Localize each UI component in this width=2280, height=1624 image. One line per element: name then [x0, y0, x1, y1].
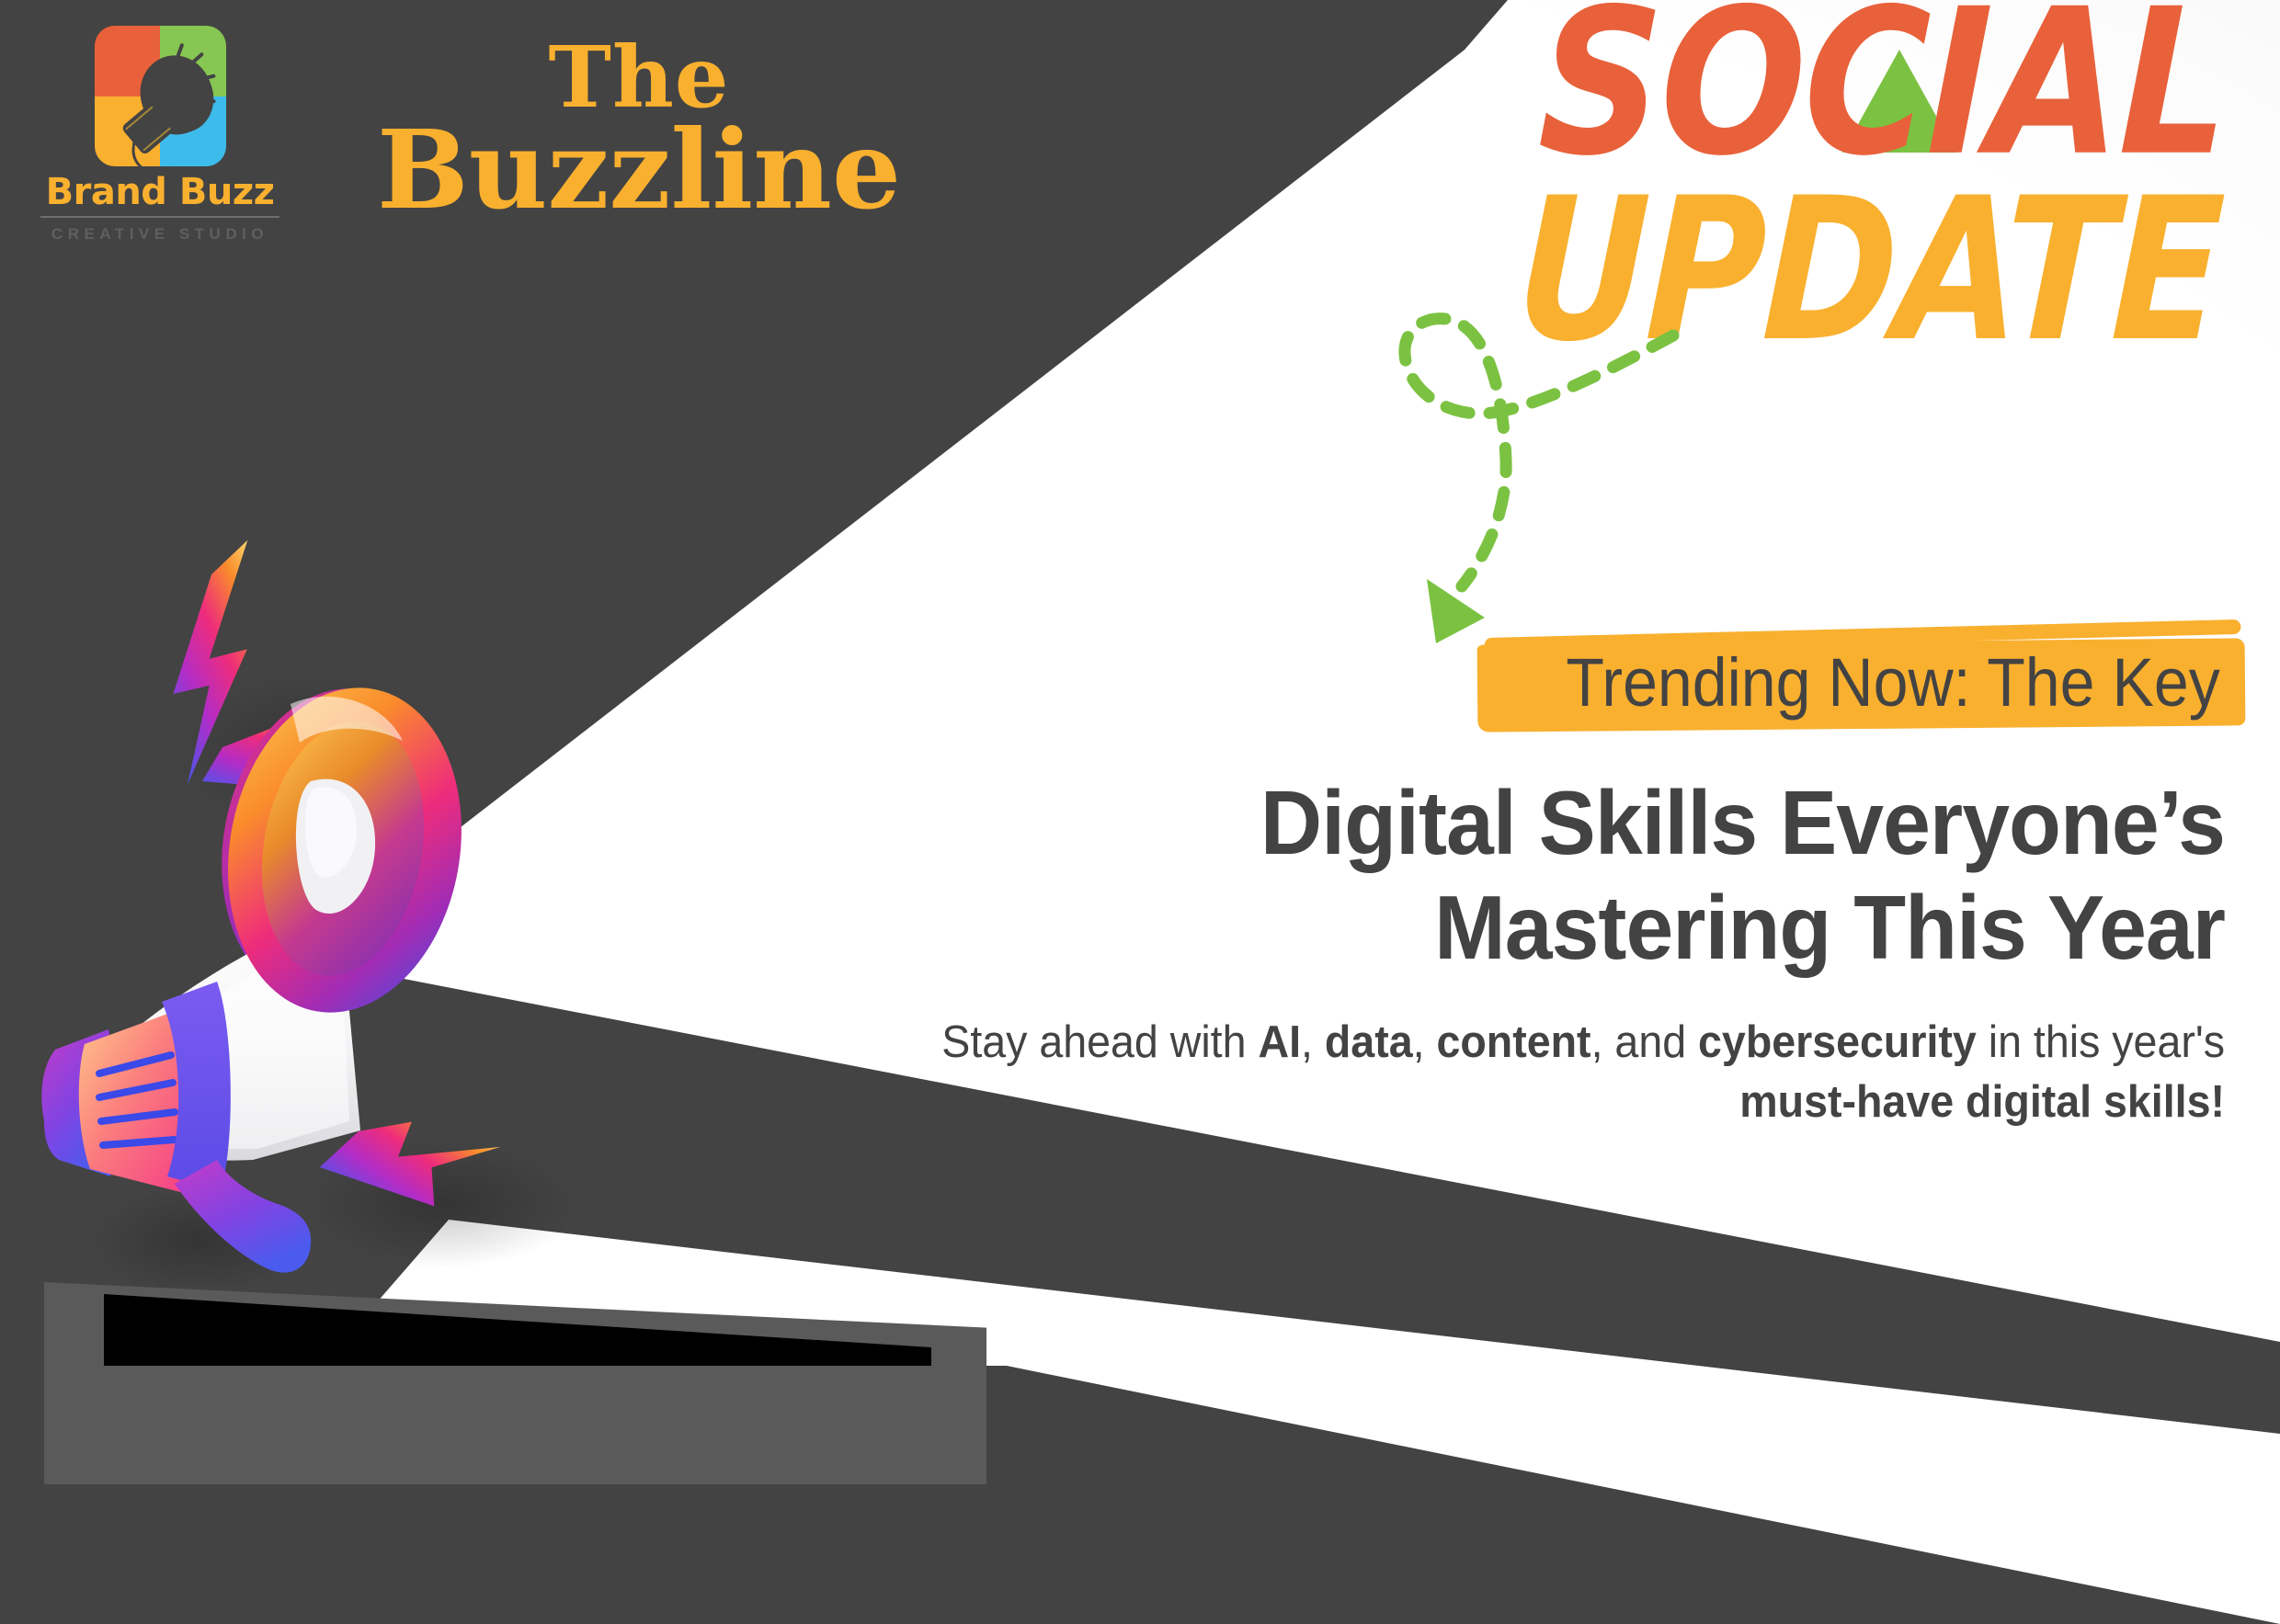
lightbulb-wire-icon [129, 132, 176, 176]
social-word: SOCIAL [1397, 1, 2229, 166]
green-dashed-arrow-icon [1351, 276, 1719, 643]
brand-divider [40, 216, 279, 218]
subtitle-emphasis: data [1325, 1017, 1413, 1067]
subtitle-text: Stay ahead with [941, 1017, 1258, 1067]
copy-block: Trending Now: The Key Digital Skills Eve… [809, 634, 2225, 1132]
eyebrow-text: Trending Now: The Key [1561, 634, 2225, 734]
subtitle-emphasis: content [1436, 1017, 1590, 1067]
subtitle-emphasis: cybersecurity [1698, 1017, 1977, 1067]
headline-line-2: Mastering This Year [880, 876, 2225, 981]
masthead: The Buzzline [359, 37, 919, 222]
eyebrow-banner: Trending Now: The Key [1503, 634, 2225, 734]
subtitle-text: , [1301, 1017, 1325, 1067]
brand-block: Brand Buzz CREATIVE STUDIO [40, 26, 279, 244]
subtitle: Stay ahead with AI, data, content, and c… [880, 1013, 2225, 1131]
masthead-line-2: Buzzline [359, 118, 919, 221]
brand-tagline: CREATIVE STUDIO [40, 225, 279, 244]
subtitle-emphasis: must-have digital skills! [1739, 1077, 2225, 1127]
subtitle-emphasis: AI [1258, 1017, 1301, 1067]
subtitle-text: , and [1591, 1017, 1698, 1067]
social-media-poster: Brand Buzz CREATIVE STUDIO The Buzzline … [0, 0, 2280, 1624]
brand-logo-icon [95, 26, 226, 166]
brand-name: Brand Buzz [40, 174, 279, 210]
megaphone-icon [37, 478, 791, 1287]
headline: Digital Skills Everyone’s Mastering This… [880, 771, 2225, 980]
subtitle-text: in this year's [1977, 1017, 2225, 1067]
headline-line-1: Digital Skills Everyone’s [880, 771, 2225, 876]
subtitle-text: , [1413, 1017, 1437, 1067]
